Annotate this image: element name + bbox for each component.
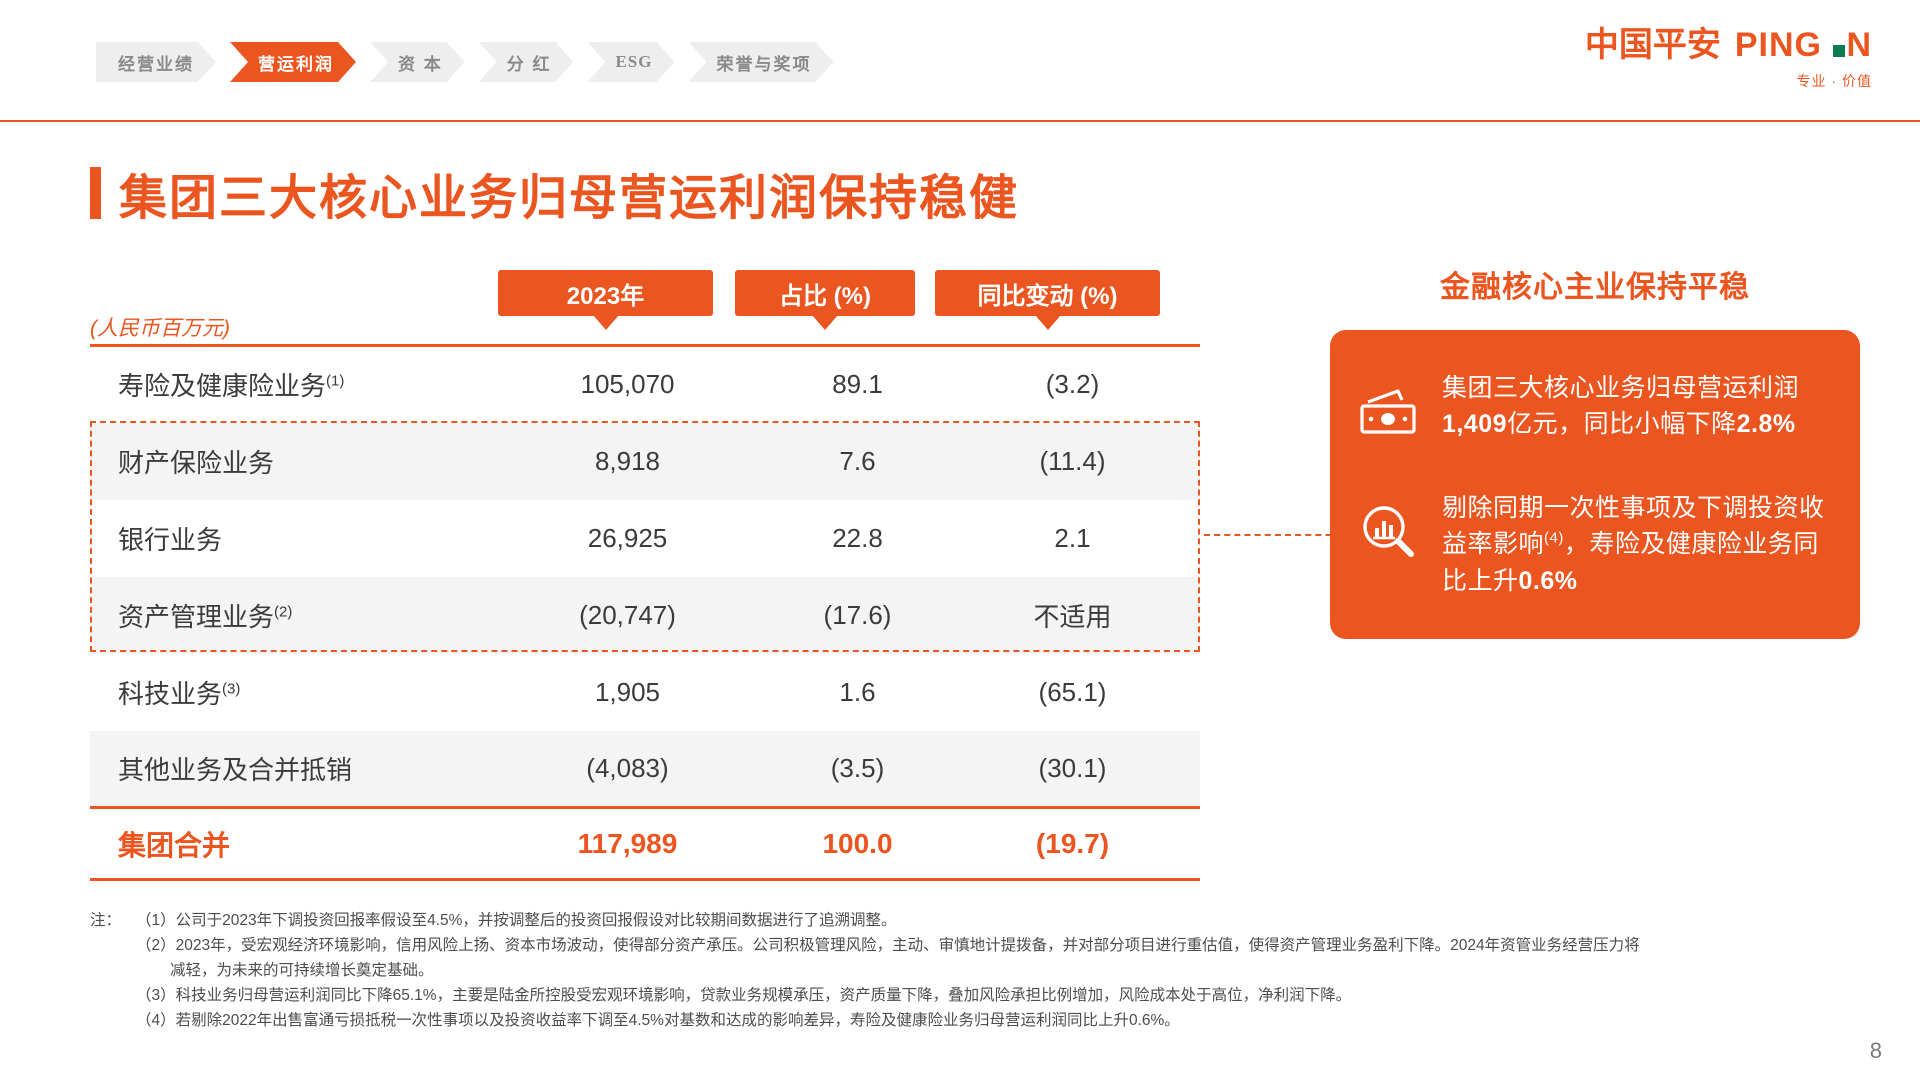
footnote-item: （4）若剔除2022年出售富通亏损抵税一次性事项以及投资收益率下调至4.5%对基… [90,1008,1880,1033]
banknote-icon [1356,380,1420,444]
table-row: 财产保险业务8,9187.6(11.4) [90,423,1200,500]
row-value-year: 1,905 [505,654,750,731]
row-label: 寿险及健康险业务(1) [90,346,505,423]
row-value-yoy: (3.2) [965,346,1200,423]
row-value-year: 8,918 [505,423,750,500]
card-heading: 金融核心主业保持平稳 [1330,262,1860,306]
footnote-text: 2023年，受宏观经济环境影响，信用风险上扬、资本市场波动，使得部分资产承压。公… [176,933,1880,958]
row-value-share: (3.5) [750,731,965,808]
top-navigation-bar: 经营业绩营运利润资 本分 红ESG荣誉与奖项 中国平安PING N 专业 · 价… [0,0,1920,122]
pingan-logo: 中国平安PING N 专业 · 价值 [1585,28,1872,91]
logo-chinese: 中国平安 [1585,26,1721,64]
card-text-line1: 剔除同期一次性事项及下调 [1442,494,1748,522]
slide: 经营业绩营运利润资 本分 红ESG荣誉与奖项 中国平安PING N 专业 · 价… [0,0,1920,1080]
total-value-yoy: (19.7) [965,808,1200,880]
card-text-mid1: 亿元，同比小幅 [1507,410,1686,438]
operating-profit-table: 寿险及健康险业务(1)105,07089.1(3.2)财产保险业务8,9187.… [90,344,1200,881]
operating-profit-table-zone: (人民币百万元) 2023年 占比 (%) 同比变动 (%) 寿险及健康险业务(… [90,270,1200,881]
table-row: 科技业务(3)1,9051.6(65.1) [90,654,1200,731]
row-label: 银行业务 [90,500,505,577]
row-value-year: 105,070 [505,346,750,423]
table-header-badges: 2023年 占比 (%) 同比变动 (%) [90,270,1200,344]
row-value-yoy: (30.1) [965,731,1200,808]
page-title: 集团三大核心业务归母营运利润保持稳健 [90,158,1019,228]
row-value-share: 1.6 [750,654,965,731]
page-title-text: 集团三大核心业务归母营运利润保持稳健 [119,158,1019,228]
row-value-yoy: (65.1) [965,654,1200,731]
footnote-text: 若剔除2022年出售富通亏损抵税一次性事项以及投资收益率下调至4.5%对基数和达… [176,1008,1880,1033]
card-text-line2a: 利润 [1748,374,1799,402]
footnote-number: （4） [136,1008,176,1033]
page-number: 8 [1870,1038,1882,1064]
nav-item-label: ESG [615,52,652,72]
logo-latin-before: PING [1735,26,1833,64]
footnote-number: （3） [136,983,176,1008]
footnote-text: 科技业务归母营运利润同比下降65.1%，主要是陆金所控股受宏观环境影响，贷款业务… [176,983,1880,1008]
nav-item-2[interactable]: 营运利润 [230,42,356,82]
row-value-share: 22.8 [750,500,965,577]
footnote-number: （2） [136,933,176,958]
card-item-operating-profit: 集团三大核心业务归母营运利润1,409亿元，同比小幅下降2.8% [1356,370,1826,444]
table-row: 其他业务及合并抵销(4,083)(3.5)(30.1) [90,731,1200,808]
card-text-strong1: 1,409 [1442,410,1507,438]
logo-wordmark: 中国平安PING N [1585,28,1872,62]
footnote-text-continuation: 减轻，为未来的可持续增长奠定基础。 [90,958,1880,983]
table-row: 寿险及健康险业务(1)105,07089.1(3.2) [90,346,1200,423]
footnote-item: （2）2023年，受宏观经济环境影响，信用风险上扬、资本市场波动，使得部分资产承… [90,933,1880,958]
total-label: 集团合并 [90,808,505,880]
table-total-row: 集团合并117,989100.0(19.7) [90,808,1200,880]
row-label: 科技业务(3) [90,654,505,731]
breadcrumb-nav: 经营业绩营运利润资 本分 红ESG荣誉与奖项 [96,42,848,82]
footnotes-label [90,1008,136,1033]
row-footnote-ref: (1) [326,373,344,390]
footnote-item: （3）科技业务归母营运利润同比下降65.1%，主要是陆金所控股受宏观环境影响，贷… [90,983,1880,1008]
card-text-strong2: 2.8% [1737,410,1796,438]
footnotes-label: 注： [90,908,136,933]
row-value-share: 7.6 [750,423,965,500]
row-value-year: (20,747) [505,577,750,654]
footnotes: 注：（1）公司于2023年下调投资回报率假设至4.5%，并按调整后的投资回报假设… [90,908,1880,1034]
footnotes-label [90,983,136,1008]
logo-green-square [1833,45,1845,57]
nav-item-label: 经营业绩 [118,50,194,75]
row-footnote-ref: (2) [274,603,292,620]
total-value-year: 117,989 [505,808,750,880]
card-text-line1: 集团三大核心业务归母营运 [1442,374,1748,402]
header-badge-share: 占比 (%) [735,270,915,316]
row-value-yoy: 不适用 [965,577,1200,654]
nav-item-label: 荣誉与奖项 [717,50,812,75]
row-value-year: (4,083) [505,731,750,808]
row-label: 资产管理业务(2) [90,577,505,654]
nav-item-label: 营运利润 [258,50,334,75]
header-badge-yoy: 同比变动 (%) [935,270,1160,316]
nav-item-label: 分 红 [507,50,552,75]
card-item-text: 集团三大核心业务归母营运利润1,409亿元，同比小幅下降2.8% [1442,370,1826,443]
total-value-share: 100.0 [750,808,965,880]
row-value-share: (17.6) [750,577,965,654]
row-footnote-ref: (3) [222,680,240,697]
title-accent-bar [90,167,101,219]
nav-item-5[interactable]: ESG [587,42,674,82]
card-item-text: 剔除同期一次性事项及下调投资收益率影响(4)，寿险及健康险业务同比上升0.6% [1442,490,1826,599]
nav-item-6[interactable]: 荣誉与奖项 [689,42,834,82]
nav-item-1[interactable]: 经营业绩 [96,42,216,82]
row-value-share: 89.1 [750,346,965,423]
footnotes-label [90,933,136,958]
header-badge-year: 2023年 [498,270,713,316]
logo-latin-after: N [1846,26,1872,64]
footnote-number: （1） [136,908,176,933]
highlight-card: 集团三大核心业务归母营运利润1,409亿元，同比小幅下降2.8% 剔除同期一次性… [1330,330,1860,639]
footnote-item: 注：（1）公司于2023年下调投资回报率假设至4.5%，并按调整后的投资回报假设… [90,908,1880,933]
chart-magnifier-icon [1356,500,1420,564]
nav-item-label: 资 本 [398,50,443,75]
card-text-line3a: 下降 [1686,410,1737,438]
card-text-strong2: 0.6% [1519,567,1578,595]
highlight-card-zone: 金融核心主业保持平稳 集团三大核心业务归母营运利润1,409亿元，同比小幅下降2… [1330,262,1860,639]
row-value-year: 26,925 [505,500,750,577]
footnote-text: 公司于2023年下调投资回报率假设至4.5%，并按调整后的投资回报假设对比较期间… [176,908,1880,933]
card-text-footnote-ref: (4) [1544,530,1564,547]
row-label: 其他业务及合并抵销 [90,731,505,808]
table-row: 资产管理业务(2)(20,747)(17.6)不适用 [90,577,1200,654]
row-label: 财产保险业务 [90,423,505,500]
card-text-mid1: ，寿险及 [1564,530,1666,558]
row-value-yoy: 2.1 [965,500,1200,577]
row-value-yoy: (11.4) [965,423,1200,500]
logo-tagline: 专业 · 价值 [1585,71,1872,91]
table-row: 银行业务26,92522.82.1 [90,500,1200,577]
nav-item-4[interactable]: 分 红 [479,42,574,82]
card-item-life-health: 剔除同期一次性事项及下调投资收益率影响(4)，寿险及健康险业务同比上升0.6% [1356,490,1826,599]
nav-item-3[interactable]: 资 本 [370,42,465,82]
